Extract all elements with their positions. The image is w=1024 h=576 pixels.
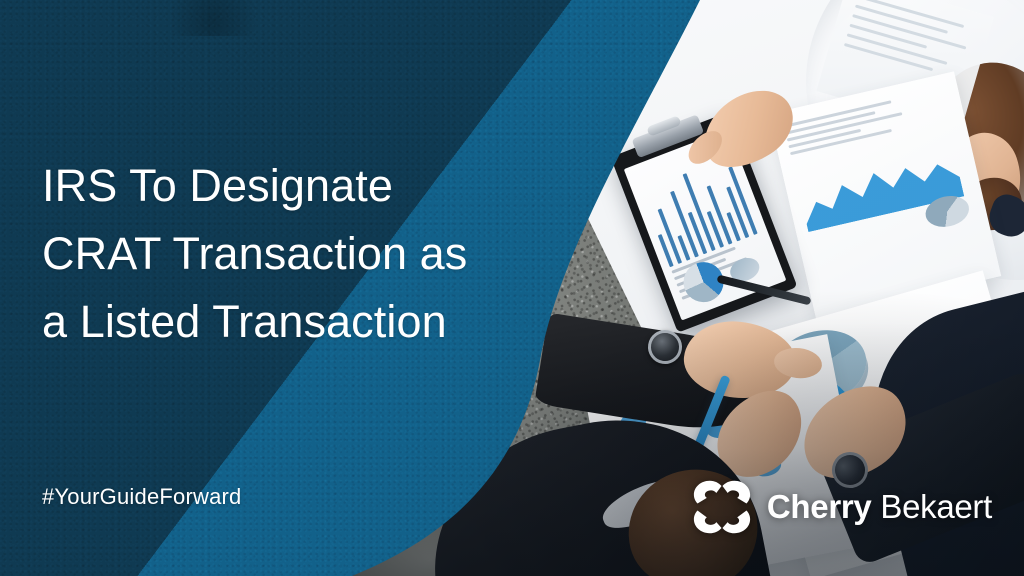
- cherry-bekaert-monogram-icon: [693, 480, 751, 534]
- logo-wordmark: Cherry Bekaert: [767, 488, 992, 526]
- page-title: IRS To Designate CRAT Transaction as a L…: [42, 152, 602, 356]
- headline-line-2: CRAT Transaction as: [42, 220, 602, 288]
- promo-banner: IRS To Designate CRAT Transaction as a L…: [0, 0, 1024, 576]
- top-shadow-accent: [168, 0, 258, 36]
- logo-word-bekaert: Bekaert: [880, 488, 992, 525]
- hashtag-tagline: #YourGuideForward: [42, 484, 241, 510]
- headline-line-1: IRS To Designate: [42, 152, 602, 220]
- headline-line-3: a Listed Transaction: [42, 288, 602, 356]
- cherry-bekaert-logo: Cherry Bekaert: [693, 480, 992, 534]
- doc-text-lines: [784, 98, 908, 155]
- logo-word-cherry: Cherry: [767, 488, 872, 525]
